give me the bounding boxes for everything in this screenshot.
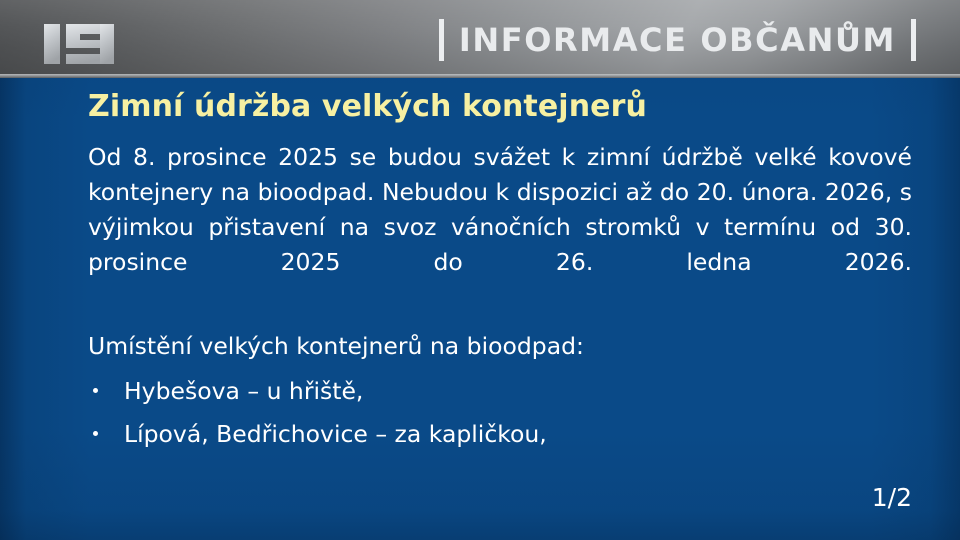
header-right-bar-icon [911,19,916,61]
location-bullet-list: Hybešova – u hřiště, Lípová, Bedřichovic… [88,374,912,451]
header-title: INFORMACE OBČANŮM [459,19,896,61]
slide-content: Zimní údržba velkých kontejnerů Od 8. pr… [88,88,912,460]
list-item-label: Lípová, Bedřichovice – za kapličkou, [124,420,547,448]
list-item: Lípová, Bedřichovice – za kapličkou, [88,417,912,451]
bullet-dot-icon [93,388,98,393]
list-item: Hybešova – u hřiště, [88,374,912,408]
slide-title: Zimní údržba velkých kontejnerů [88,88,912,126]
page-indicator: 1/2 [872,484,912,512]
is-monogram-logo [44,21,130,67]
body-paragraph-1: Od 8. prosince 2025 se budou svážet k zi… [88,140,912,315]
header-bottom-divider [0,74,960,78]
list-item-label: Hybešova – u hřiště, [124,377,363,405]
header-left-bar-icon [439,19,444,61]
bullet-dot-icon [93,431,98,436]
slide-canvas: INFORMACE OBČANŮM Zimní údržba velkých k… [0,0,960,540]
body-paragraph-2: Umístění velkých kontejnerů na bioodpad: [88,329,912,364]
header-title-group: INFORMACE OBČANŮM [439,17,916,63]
header-banner: INFORMACE OBČANŮM [0,0,960,78]
